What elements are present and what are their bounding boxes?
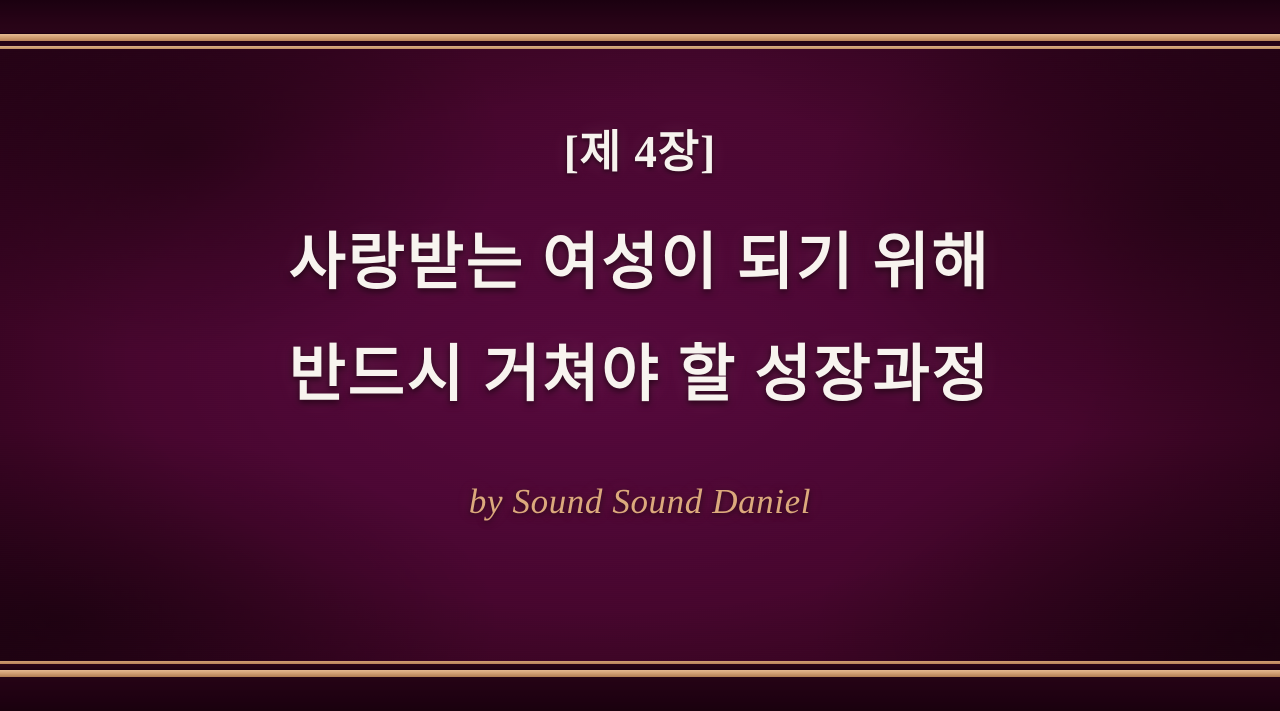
title-line-2: 반드시 거쳐야 할 성장과정 — [289, 344, 991, 406]
chapter-label: [제 4장] — [564, 115, 717, 180]
title-line-1: 사랑받는 여성이 되기 위해 — [289, 232, 991, 294]
byline-credit: by Sound Sound Daniel — [469, 482, 811, 522]
video-title-card: [제 4장] 사랑받는 여성이 되기 위해 반드시 거쳐야 할 성장과정 by … — [0, 0, 1280, 711]
letterbox-bottom — [0, 677, 1280, 711]
gold-divider-bottom-thick — [0, 670, 1280, 677]
gold-divider-top-thin — [0, 46, 1280, 49]
letterbox-top — [0, 0, 1280, 33]
gold-divider-top-thick — [0, 34, 1280, 41]
title-content: [제 4장] 사랑받는 여성이 되기 위해 반드시 거쳐야 할 성장과정 by … — [0, 0, 1280, 711]
